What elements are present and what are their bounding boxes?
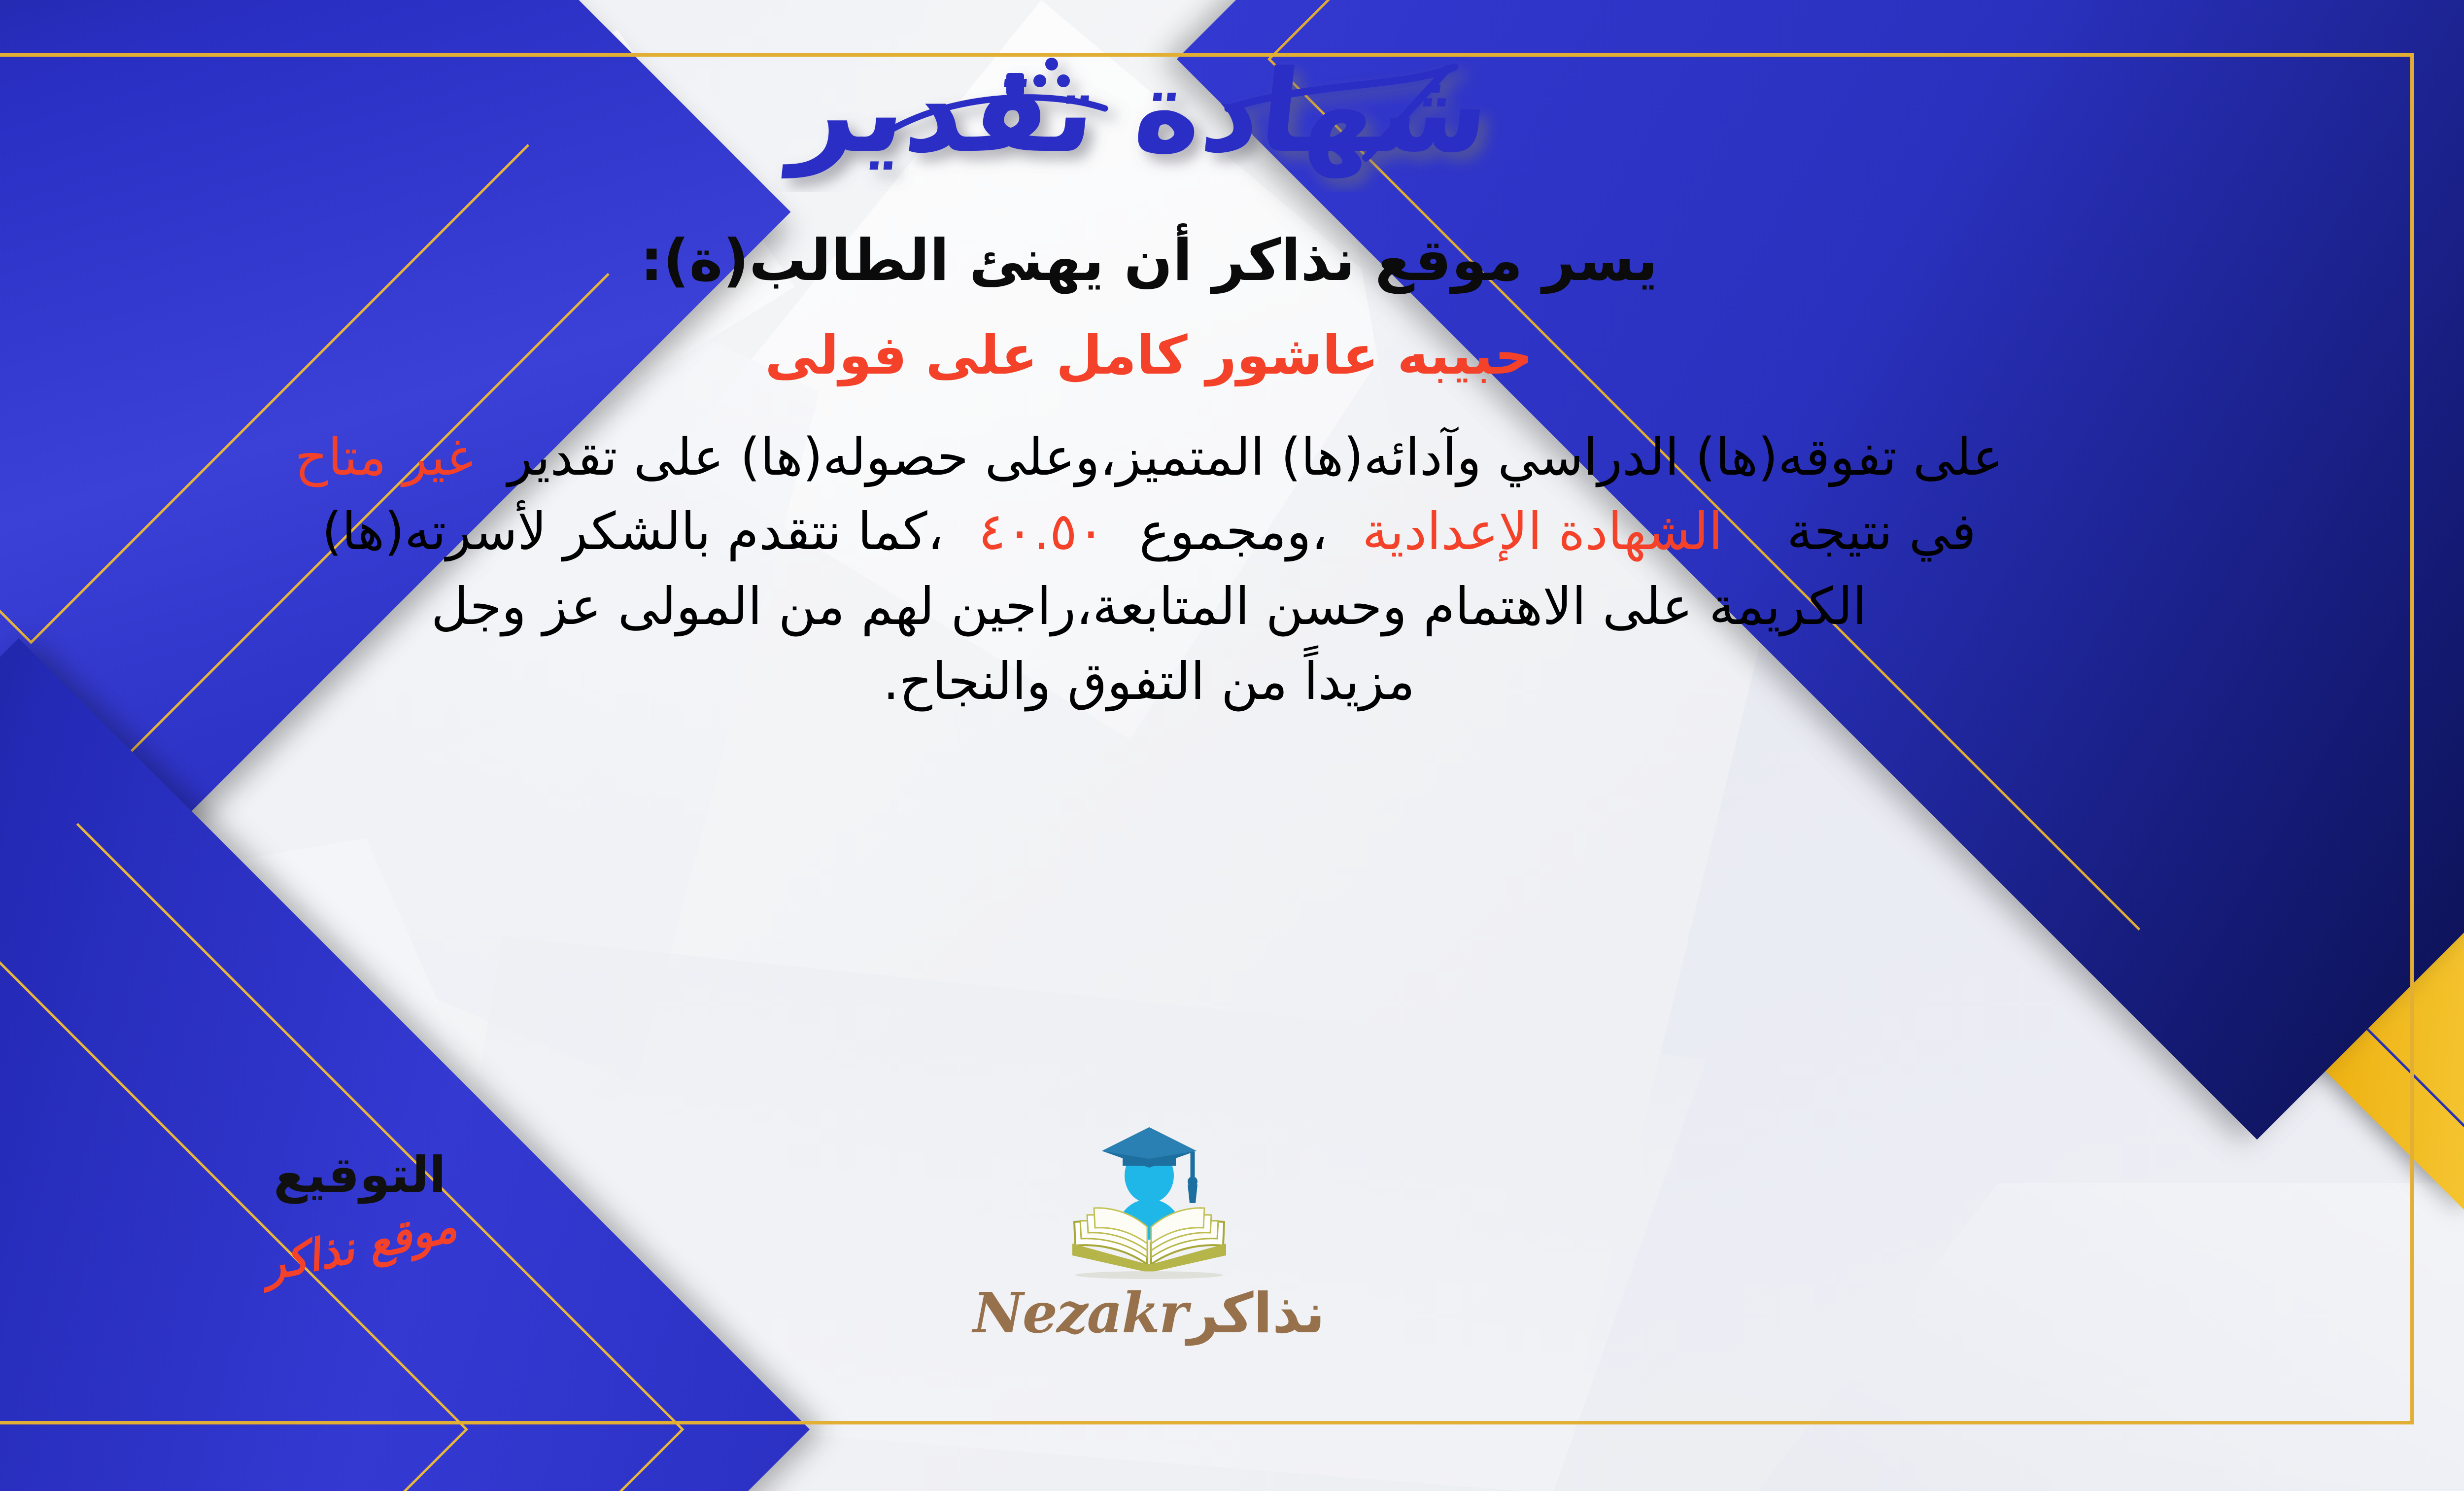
certificate-content: شهادة تقدير يسر موقع نذاكر أن يهنئ الطال…: [0, 0, 2464, 1491]
body-line-4: مزيداً من التفوق والنجاح.: [0, 644, 2307, 719]
certificate-canvas: شهادة تقدير يسر موقع نذاكر أن يهنئ الطال…: [0, 0, 2464, 1491]
body-line-2-prefix: في نتيجة: [1787, 501, 1976, 561]
certificate-title: شهادة تقدير: [0, 30, 2464, 197]
body-line-2-mid: ،ومجموع: [1139, 501, 1328, 561]
student-name: حبيبه عاشور كامل على فولى: [0, 321, 2307, 391]
body-line-3: الكريمة على الاهتمام وحسن المتابعة،راجين…: [0, 569, 2307, 644]
graduate-book-icon: [1051, 1116, 1248, 1279]
logo-latin: Nezakr: [973, 1281, 1187, 1346]
logo-wordmark: نذاكرNezakr: [942, 1281, 1356, 1346]
certificate-footer: التوقيع موقع نذاكر: [0, 1116, 2464, 1422]
site-logo: نذاكرNezakr: [942, 1116, 1356, 1346]
body-line-2-suffix: ،كما نتقدم بالشكر لأسرته(ها): [322, 501, 944, 561]
body-paragraph: على تفوقه(ها) الدراسي وآدائه(ها) المتميز…: [0, 420, 2307, 719]
body-line-1-text: على تفوقه(ها) الدراسي وآدائه(ها) المتميز…: [508, 427, 2003, 487]
score-value: ٤٠.٥٠: [978, 501, 1105, 561]
signature-mark: موقع نذاكر: [259, 1201, 461, 1291]
signature-label: التوقيع: [168, 1146, 552, 1204]
body-line-1: على تفوقه(ها) الدراسي وآدائه(ها) المتميز…: [0, 420, 2307, 495]
signature-block: التوقيع موقع نذاكر: [168, 1146, 552, 1271]
grade-value: غير متاح: [295, 427, 473, 487]
logo-arabic: نذاكر: [1187, 1282, 1325, 1346]
intro-line: يسر موقع نذاكر أن يهنئ الطالب(ة):: [0, 223, 2307, 298]
exam-name: الشهادة الإعدادية: [1362, 501, 1723, 561]
body-line-2: في نتيجةالشهادة الإعدادية،ومجموع٤٠.٥٠،كم…: [0, 494, 2307, 569]
title-glyphs: شهادة تقدير: [781, 46, 1496, 179]
certificate-body: يسر موقع نذاكر أن يهنئ الطالب(ة): حبيبه …: [0, 197, 2307, 719]
